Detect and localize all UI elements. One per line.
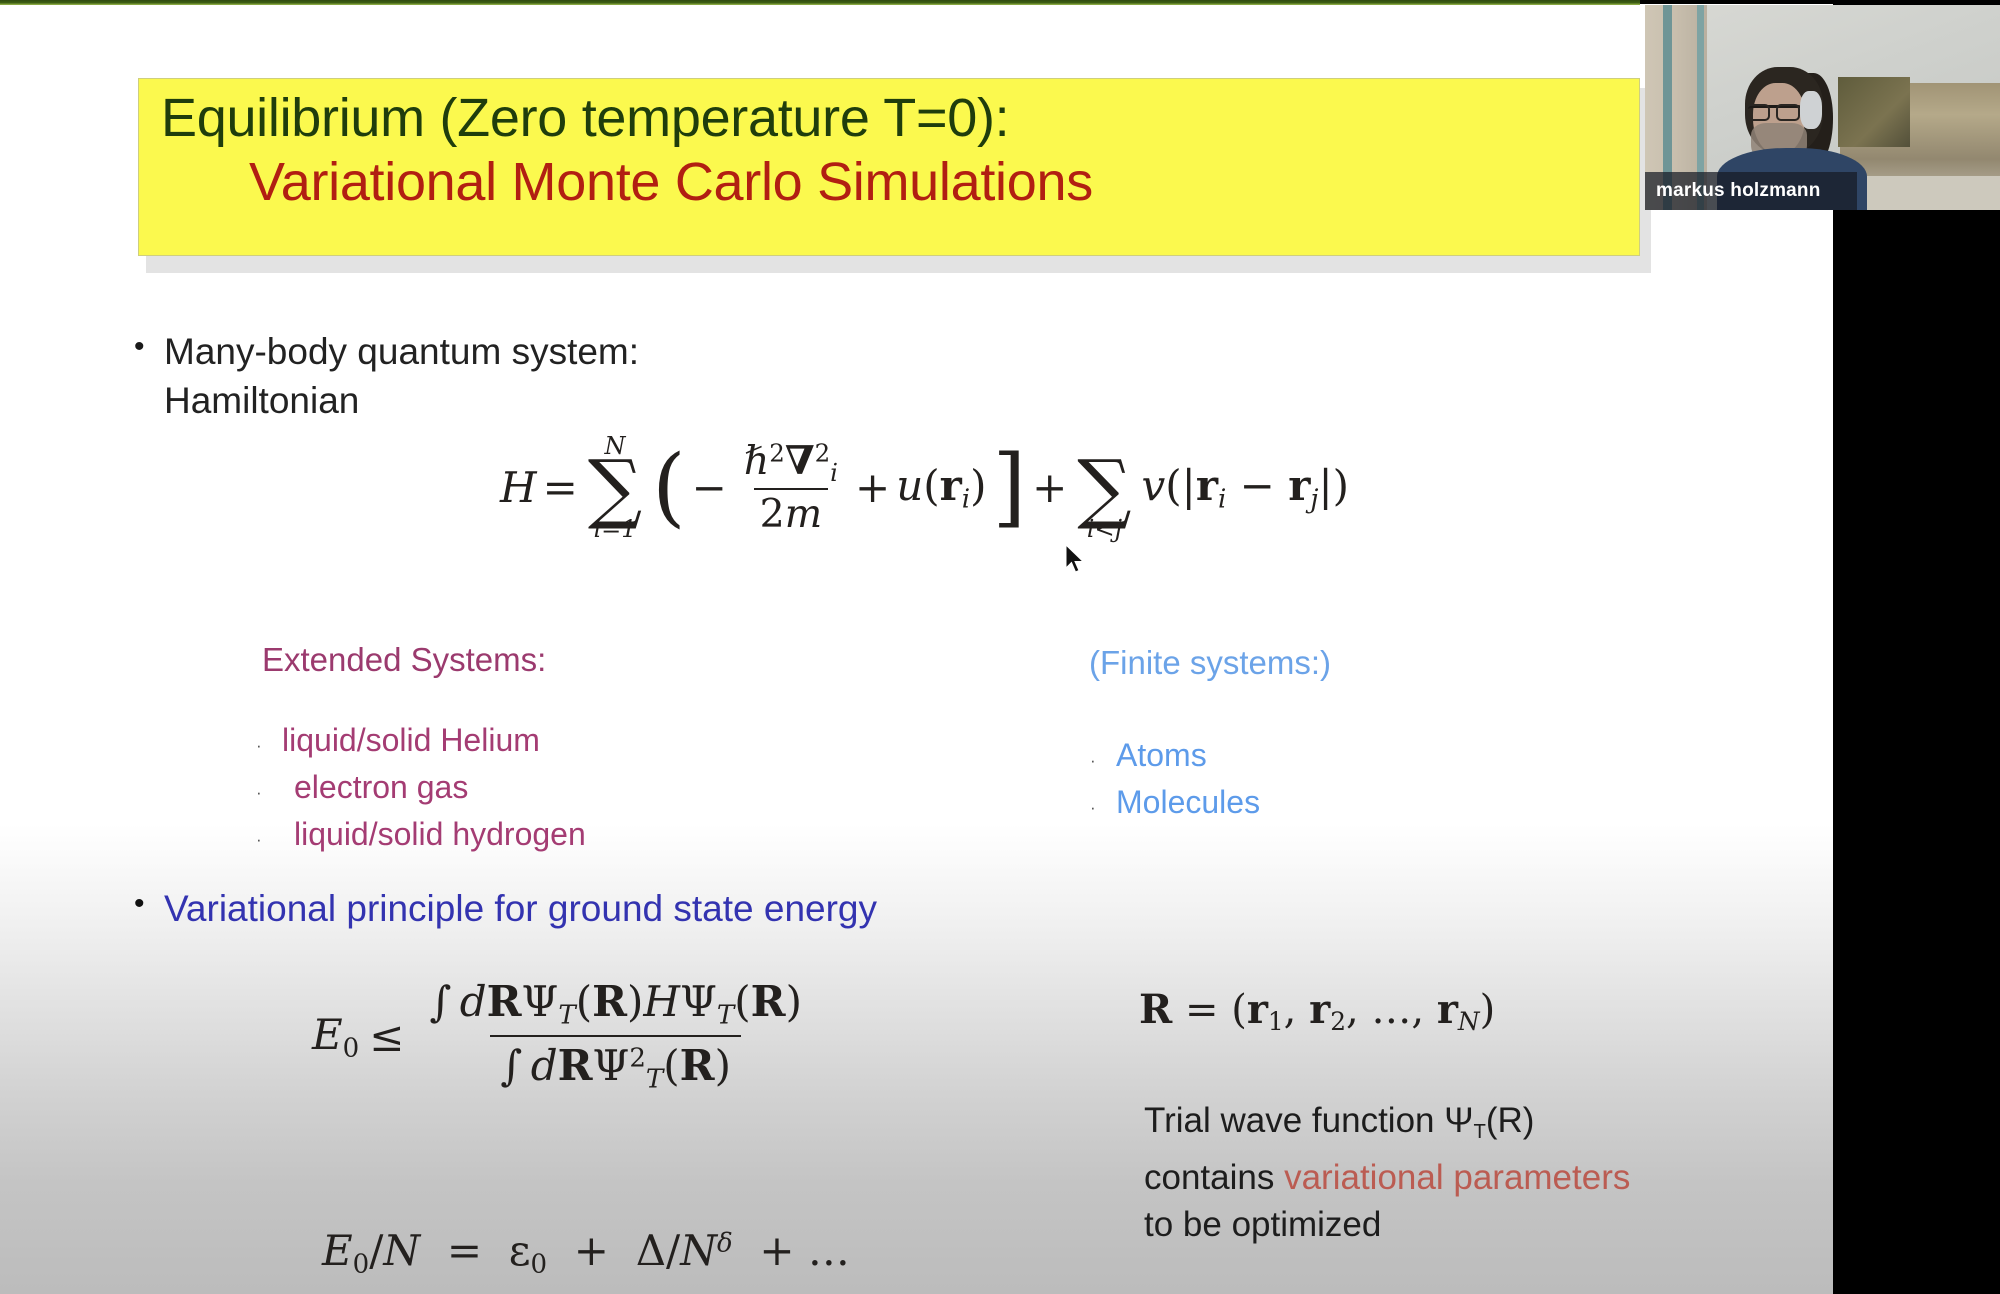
list-item-label: liquid/solid Helium — [282, 722, 540, 759]
sub-bullet-icon: · — [1086, 798, 1116, 818]
summation-symbol-2: ∑ i<j — [1077, 434, 1131, 541]
bullet-marker-icon: • — [134, 884, 164, 925]
bullet-text: Variational principle for ground state e… — [164, 884, 877, 933]
kinetic-numerator: ℏ2∇2i — [738, 440, 844, 488]
annotation-line1-suffix: (R) — [1486, 1101, 1535, 1140]
close-bracket: ] — [993, 449, 1027, 526]
list-item: · liquid/solid hydrogen — [252, 816, 586, 853]
slide-title-line-1: Equilibrium (Zero temperature T=0): — [139, 87, 1639, 151]
less-equal-sign: ≤ — [369, 1012, 404, 1061]
presentation-slide: Equilibrium (Zero temperature T=0): Vari… — [0, 4, 1833, 1294]
open-paren: ( — [652, 449, 686, 526]
list-finite-systems: · Atoms · Molecules — [1086, 737, 1260, 831]
list-item: · liquid/solid Helium — [252, 722, 586, 759]
equation-energy-expansion: E0/N = ε0 + Δ/Nδ + … — [322, 1226, 850, 1279]
slide-title-line-2: Variational Monte Carlo Simulations — [139, 151, 1639, 215]
heading-extended-systems: Extended Systems: — [262, 641, 546, 679]
equation-variational-bound: E0 ≤ ∫ dRΨT(R)HΨT(R) ∫ dRΨ2T(R) — [312, 979, 817, 1094]
summation-symbol-1: N ∑ i=1 — [588, 434, 642, 541]
webcam-shelf-items — [1838, 77, 1910, 147]
rayleigh-quotient: ∫ dRΨT(R)HΨT(R) ∫ dRΨ2T(R) — [419, 979, 812, 1094]
heading-finite-systems: (Finite systems:) — [1089, 644, 1331, 682]
minus-sign: − — [692, 463, 727, 512]
kinetic-term-fraction: ℏ2∇2i 2m — [738, 440, 844, 536]
webcam-person-headphone — [1800, 91, 1822, 129]
pair-potential-term: v(|ri − rj|) — [1142, 461, 1349, 514]
title-banner: Equilibrium (Zero temperature T=0): Vari… — [138, 78, 1640, 256]
sum-lower-limit: i=1 — [593, 517, 636, 541]
screen-capture: Equilibrium (Zero temperature T=0): Vari… — [0, 0, 2000, 1294]
psi-subscript: T — [1473, 1121, 1485, 1143]
list-item: · electron gas — [252, 769, 586, 806]
list-item-label: liquid/solid hydrogen — [282, 816, 586, 853]
sigma-icon: ∑ — [588, 458, 642, 517]
annotation-line2-prefix: contains — [1144, 1158, 1284, 1197]
webcam-name-label: markus holzmann — [1645, 172, 1857, 210]
sigma-icon-2: ∑ — [1077, 458, 1131, 517]
sub-bullet-icon: · — [1086, 751, 1116, 771]
annotation-accent-text: variational parameters — [1284, 1158, 1630, 1197]
kinetic-denominator: 2m — [754, 488, 829, 536]
presenter-top-border — [0, 0, 1640, 5]
quotient-denominator: ∫ dRΨ2T(R) — [490, 1035, 741, 1093]
bullet-many-body-system: • Many-body quantum system: Hamiltonian — [134, 327, 639, 425]
bullet-text-block: Many-body quantum system: Hamiltonian — [164, 327, 639, 425]
quotient-numerator: ∫ dRΨT(R)HΨT(R) — [419, 979, 812, 1035]
equation-coordinate-vector: R = (r1, r2, …, rN) — [1139, 986, 1495, 1036]
list-item-label: Atoms — [1116, 737, 1207, 774]
annotation-contains-parameters: contains variational parameters — [1144, 1156, 1630, 1201]
external-potential-term: u(ri) — [896, 461, 986, 514]
sub-bullet-icon: · — [252, 783, 282, 803]
annotation-line1-prefix: Trial wave function — [1144, 1101, 1444, 1140]
webcam-tile-participant[interactable]: markus holzmann — [1645, 5, 2000, 210]
list-item-label: Molecules — [1116, 784, 1260, 821]
sub-bullet-icon: · — [252, 736, 282, 756]
ground-state-energy-symbol: E0 — [312, 1010, 359, 1063]
participant-name: markus holzmann — [1656, 180, 1821, 202]
list-item: · Atoms — [1086, 737, 1260, 774]
bullet-line-1: Many-body quantum system: — [164, 331, 639, 372]
sum2-lower-limit: i<j — [1087, 517, 1122, 541]
webcam-person-glasses-right — [1776, 104, 1800, 121]
list-item-label: electron gas — [282, 769, 468, 806]
bullet-marker-icon: • — [134, 327, 164, 368]
webcam-person-glasses-left — [1746, 104, 1770, 121]
bullet-variational-principle: • Variational principle for ground state… — [134, 884, 877, 933]
bullet-line-2: Hamiltonian — [164, 380, 359, 421]
sub-bullet-icon: · — [252, 830, 282, 850]
annotation-trial-wave-function: Trial wave function ΨT(R) — [1144, 1099, 1534, 1146]
psi-symbol: Ψ — [1444, 1101, 1473, 1140]
list-extended-systems: · liquid/solid Helium · electron gas · l… — [252, 722, 586, 863]
list-item: · Molecules — [1086, 784, 1260, 821]
annotation-to-be-optimized: to be optimized — [1144, 1203, 1381, 1248]
equation-hamiltonian: H = N ∑ i=1 ( − ℏ2∇2i 2m + u(ri) ] + — [500, 434, 1349, 541]
